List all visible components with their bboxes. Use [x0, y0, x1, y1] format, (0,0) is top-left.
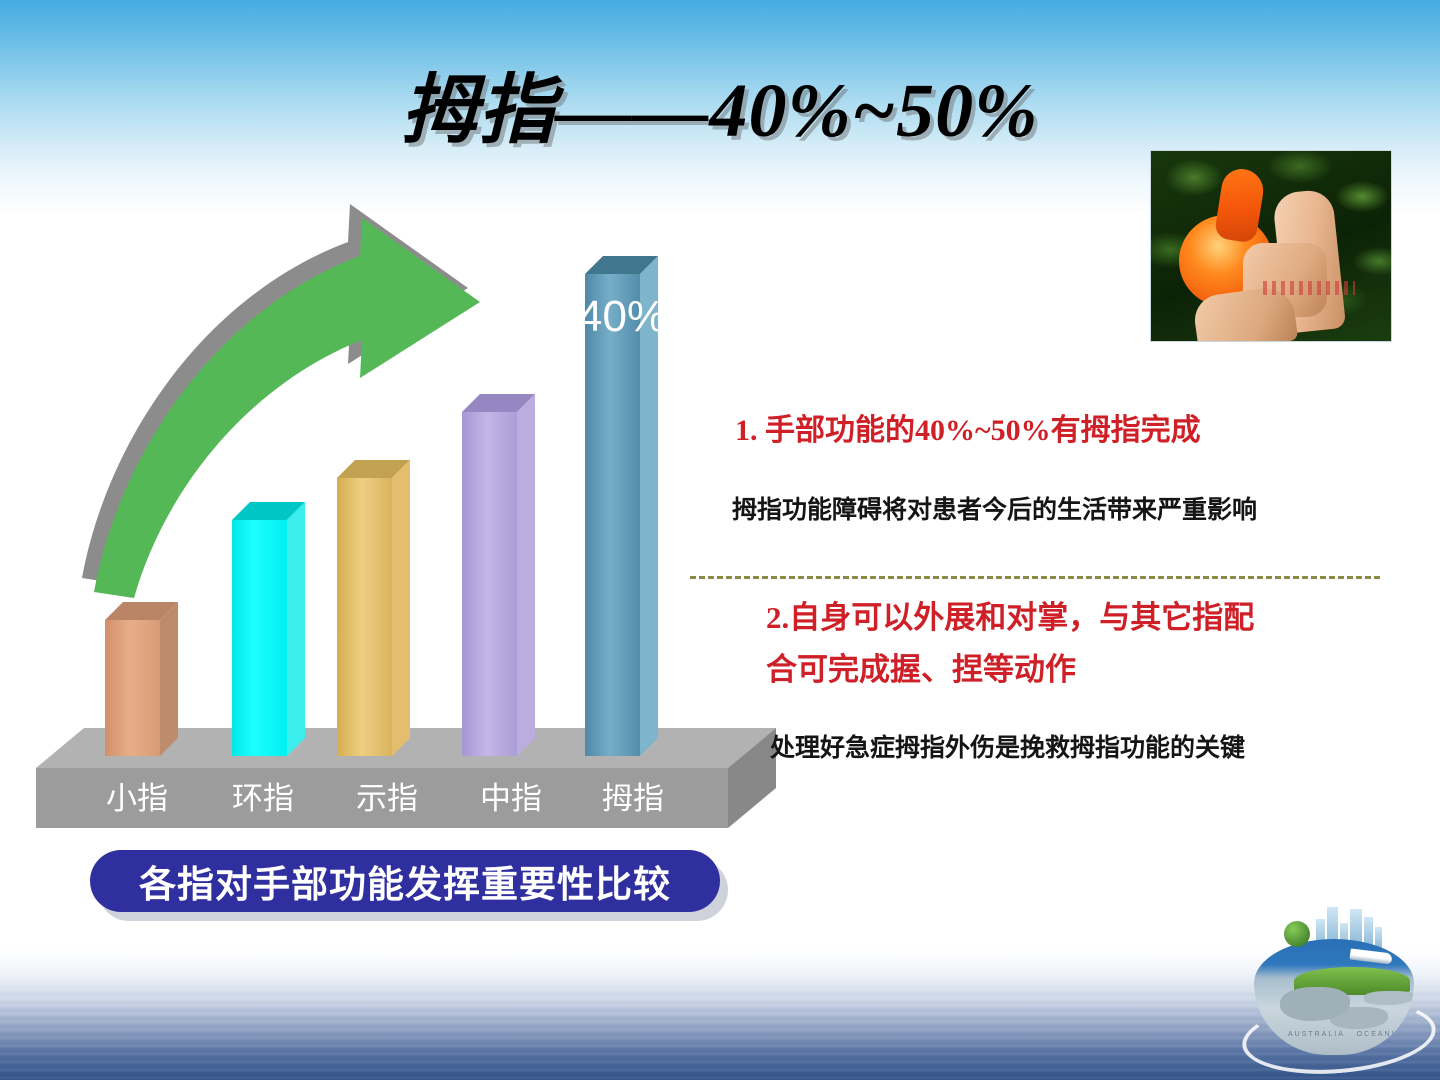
- bar-category-label-3: 中指: [466, 773, 556, 818]
- bar-chart: 40% 小指 环指 示指 中指 拇指: [0, 190, 800, 850]
- bar-series: [0, 190, 800, 790]
- bar-category-label-2: 示指: [342, 773, 432, 818]
- ocean-ripples: [0, 988, 1440, 1080]
- chart-caption-text: 各指对手部功能发挥重要性比较: [139, 854, 671, 908]
- bar-category-label-4: 拇指: [588, 773, 678, 818]
- bar-item-1: [232, 502, 305, 756]
- section-divider: [690, 576, 1380, 579]
- bar-category-label-1: 环指: [218, 773, 308, 818]
- point-1-subtext: 拇指功能障碍将对患者今后的生活带来严重影响: [732, 490, 1257, 526]
- thumb-orange-photo: [1150, 150, 1392, 342]
- photo-watermark: [1263, 281, 1355, 295]
- chart-caption-pill: 各指对手部功能发挥重要性比较: [90, 850, 720, 912]
- bar-item-3: [462, 394, 535, 756]
- bar-item-2: [337, 460, 410, 756]
- bar-value-label-4: 40%: [578, 295, 666, 339]
- slide-title: 拇指——40%~50%: [0, 48, 1440, 158]
- bar-item-0: [105, 602, 178, 756]
- globe-graphic: AUSTRALIA OCEANIA: [1240, 905, 1430, 1075]
- point-2-heading-line-1: 2.自身可以外展和对掌，与其它指配: [766, 592, 1254, 637]
- tree-icon: [1284, 921, 1310, 947]
- bar-category-label-0: 小指: [92, 773, 182, 818]
- slide-canvas: 拇指——40%~50%: [0, 0, 1440, 1080]
- point-3-text: 处理好急症拇指外伤是挽救拇指功能的关键: [770, 728, 1245, 764]
- point-1-heading: 1. 手部功能的40%~50%有拇指完成: [735, 405, 1201, 449]
- point-2-heading-line-2: 合可完成握、捏等动作: [766, 644, 1076, 689]
